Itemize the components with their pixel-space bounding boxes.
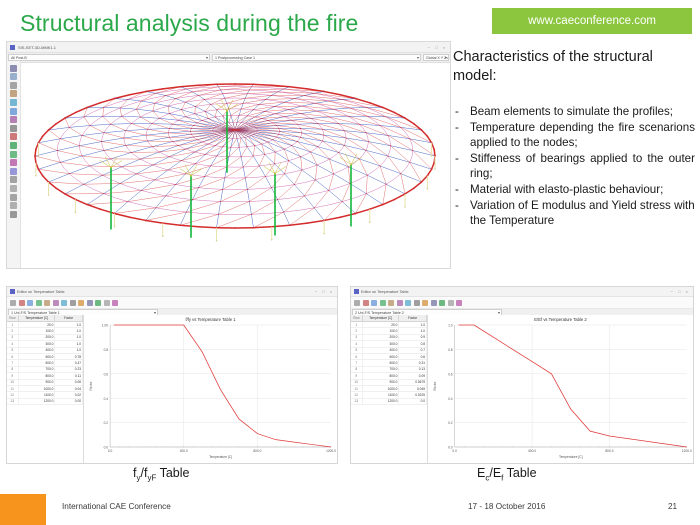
toolbar-icon-10[interactable] [95, 300, 101, 306]
svg-text:800.0: 800.0 [605, 449, 613, 453]
caption-sub2: yF [147, 474, 156, 483]
column-icon[interactable] [10, 142, 17, 149]
grid-cell[interactable]: 11 [7, 386, 19, 391]
characteristics-heading: Characteristics of the structural model: [453, 48, 695, 86]
caption-fy-table: fy/fyF Table [133, 466, 189, 483]
load-icon[interactable] [10, 176, 17, 183]
toolbar-icon-6[interactable] [61, 300, 67, 306]
grid-cell[interactable]: 6 [7, 354, 19, 359]
grid-cell[interactable]: 1.0 [55, 341, 83, 346]
mesh-icon[interactable] [10, 194, 17, 201]
viewer-tool-palette[interactable] [7, 61, 21, 268]
grid-cell[interactable]: 2 [351, 328, 363, 333]
brush-icon[interactable] [10, 108, 17, 115]
grid-header-cell: Temperature [C] [19, 315, 56, 321]
toolbar-icon-5[interactable] [397, 300, 403, 306]
grid-cell[interactable]: 200.0 [19, 335, 55, 340]
bullet-text: Material with elasto-plastic behaviour; [470, 182, 695, 197]
grid-cell[interactable]: 0.47 [55, 360, 83, 365]
svg-text:0.6: 0.6 [448, 372, 453, 376]
grid-cell[interactable]: 10 [351, 380, 363, 385]
chart2-body: RowTemperature [C]Factor120.01.02100.01.… [351, 315, 693, 463]
support-icon[interactable] [10, 185, 17, 192]
grid-cell[interactable]: 300.0 [19, 341, 55, 346]
grid-cell[interactable]: 0.31 [399, 360, 427, 365]
grid-cell[interactable]: 7 [351, 360, 363, 365]
grid-cell[interactable]: 13 [7, 399, 19, 404]
toolbar-icon-2[interactable] [27, 300, 33, 306]
chevron-down-icon [417, 57, 419, 59]
svg-text:0.4: 0.4 [104, 397, 109, 401]
combo-label: 1 Postprocessing Case 1 [215, 56, 255, 60]
grid-cell[interactable]: 0.0675 [399, 380, 427, 385]
grid-cell[interactable]: 1 [7, 322, 19, 327]
table-row[interactable]: 131200.00.0 [351, 399, 427, 405]
bullet-item: -Variation of E modulus and Yield stress… [455, 198, 695, 228]
svg-text:0.2: 0.2 [448, 421, 453, 425]
characteristics-bullet-list: -Beam elements to simulate the profiles;… [455, 104, 695, 230]
chart2-plot-svg: 1.00.80.60.40.20.00.0400.0800.01200.0Tem… [428, 315, 693, 463]
combo-load-case[interactable]: 1 Postprocessing Case 1 [212, 54, 421, 61]
grid-cell[interactable]: 20.0 [363, 322, 399, 327]
svg-text:0.6: 0.6 [104, 372, 109, 376]
grid-header-cell: Row [7, 315, 19, 321]
bullet-text: Beam elements to simulate the profiles; [470, 104, 695, 119]
grid-cell[interactable]: 600.0 [363, 360, 399, 365]
grid-cell[interactable]: 1.0 [399, 328, 427, 333]
grid-cell[interactable]: 1.0 [55, 328, 83, 333]
window-controls[interactable]: − □ × [671, 289, 690, 294]
node-icon[interactable] [10, 82, 17, 89]
grid-cell[interactable]: 0.11 [55, 373, 83, 378]
font-icon[interactable] [10, 116, 17, 123]
svg-text:1.00: 1.00 [102, 324, 108, 328]
toolbar-icon-8[interactable] [78, 300, 84, 306]
svg-text:1.0: 1.0 [448, 324, 453, 328]
toolbar-icon-1[interactable] [19, 300, 25, 306]
grid-cell[interactable]: 5 [351, 348, 363, 353]
svg-text:0.0: 0.0 [452, 449, 457, 453]
viewer-title-bar: SIS-SET-3D-MMK1.1 − □ × [7, 42, 450, 53]
bullet-item: -Temperature depending the fire scenario… [455, 120, 695, 150]
grid-cell[interactable]: 1.0 [55, 335, 83, 340]
combo-label: All Post-B [11, 56, 27, 60]
bullet-item: -Material with elasto-plastic behaviour; [455, 182, 695, 197]
print-icon[interactable] [10, 125, 17, 132]
bullet-dash: - [455, 182, 470, 197]
chart1-plot-area: f/fy vs Temperature Table 1 1.000.80.60.… [84, 315, 337, 463]
svg-text:0.0: 0.0 [108, 449, 113, 453]
chart2-toolbar[interactable] [351, 297, 693, 309]
svg-text:0.4: 0.4 [448, 397, 453, 401]
grid-cell[interactable]: 0.06 [55, 380, 83, 385]
grid-cell[interactable]: 100.0 [363, 328, 399, 333]
svg-text:Factor: Factor [433, 381, 437, 391]
window-controls[interactable]: − □ × [428, 45, 447, 50]
grid-cell[interactable]: 1.0 [55, 322, 83, 327]
combo-postprocessing-set[interactable]: All Post-B [8, 54, 210, 61]
page-title: Structural analysis during the fire [20, 10, 358, 37]
grid-header-row: RowTemperature [C]Factor [351, 315, 427, 322]
cursor-icon[interactable] [10, 65, 17, 72]
grid-cell[interactable]: 7 [7, 360, 19, 365]
grid-cell[interactable]: 11 [351, 386, 363, 391]
grid-cell[interactable]: 400.0 [19, 348, 55, 353]
grid-cell[interactable]: 0.02 [55, 392, 83, 397]
grid-header-cell: Factor [399, 315, 427, 321]
grid-cell[interactable]: 3 [351, 335, 363, 340]
toolbar-icon-0[interactable] [354, 300, 360, 306]
svg-text:1200.0: 1200.0 [682, 449, 692, 453]
toolbar-icon-7[interactable] [414, 300, 420, 306]
grid-cell[interactable]: 0.04 [55, 386, 83, 391]
grid-cell[interactable]: 0.0 [399, 399, 427, 404]
chart1-toolbar[interactable] [7, 297, 337, 309]
caption-post: Table [503, 466, 536, 480]
chart2-plot-area: E/Ef vs Temperature Table 2 1.00.80.60.4… [428, 315, 693, 463]
grid-cell[interactable]: 1 [351, 322, 363, 327]
footer-conference-name: International CAE Conference [62, 502, 171, 511]
toolbar-icon-6[interactable] [405, 300, 411, 306]
paint-icon[interactable] [10, 99, 17, 106]
grid-cell[interactable]: 0.78 [55, 354, 83, 359]
grid-cell[interactable]: 200.0 [363, 335, 399, 340]
grid-cell[interactable]: 100.0 [19, 328, 55, 333]
grid-cell[interactable]: 300.0 [363, 341, 399, 346]
grid-cell[interactable]: 6 [351, 354, 363, 359]
grid-cell[interactable]: 4 [7, 341, 19, 346]
chevron-down-icon [206, 57, 208, 59]
grid-cell[interactable]: 3 [7, 335, 19, 340]
beam-icon[interactable] [10, 151, 17, 158]
window-controls[interactable]: − □ × [315, 289, 334, 294]
svg-text:400.0: 400.0 [180, 449, 188, 453]
model-canvas[interactable] [20, 61, 450, 268]
toolbar-icon-5[interactable] [53, 300, 59, 306]
grid-cell[interactable]: 0.0225 [399, 392, 427, 397]
grid-cell[interactable]: 0.7 [399, 348, 427, 353]
grid-cell[interactable]: 400.0 [363, 348, 399, 353]
svg-text:800.0: 800.0 [253, 449, 261, 453]
grid-header-cell: Row [351, 315, 363, 321]
svg-text:1200.0: 1200.0 [326, 449, 336, 453]
grid-cell[interactable]: 5 [7, 348, 19, 353]
grid-cell[interactable]: 500.0 [363, 354, 399, 359]
grid-cell[interactable]: 800.0 [19, 373, 55, 378]
solid-icon[interactable] [10, 168, 17, 175]
chart2-title-bar: Editor on Temperature Table − □ × [351, 287, 693, 297]
grid-cell[interactable]: 800.0 [363, 373, 399, 378]
grid-cell[interactable]: 20.0 [19, 322, 55, 327]
bullet-dash: - [455, 198, 470, 228]
toolbar-icon-10[interactable] [439, 300, 445, 306]
grid-cell[interactable]: 0.9 [399, 335, 427, 340]
toolbar-icon-12[interactable] [112, 300, 118, 306]
viewer-window-title: SIS-SET-3D-MMK1.1 [18, 45, 56, 50]
grid-cell[interactable]: 9 [7, 373, 19, 378]
result-icon[interactable] [10, 202, 17, 209]
chart1-body: RowTemperature [C]Factor120.01.02100.01.… [7, 315, 337, 463]
temperature-table-window-1[interactable]: Editor on Temperature Table − □ × 1 Uni-… [6, 286, 338, 464]
toolbar-icon-11[interactable] [104, 300, 110, 306]
bullet-item: -Beam elements to simulate the profiles; [455, 104, 695, 119]
chart2-window-title: Editor on Temperature Table [361, 290, 409, 294]
grid-cell[interactable]: 4 [351, 341, 363, 346]
grid-cell[interactable]: 1.0 [399, 322, 427, 327]
bullet-dash: - [455, 120, 470, 150]
grid-cell[interactable]: 700.0 [363, 367, 399, 372]
url-banner-label: www.caeconference.com [528, 15, 656, 27]
svg-text:0.2: 0.2 [104, 421, 109, 425]
toolbar-icon-3[interactable] [36, 300, 42, 306]
svg-text:400.0: 400.0 [528, 449, 536, 453]
grid-cell[interactable]: 12 [351, 392, 363, 397]
table-row[interactable]: 131200.00.00 [7, 399, 83, 405]
dot-icon[interactable] [10, 133, 17, 140]
app-logo-icon [354, 289, 359, 294]
grid-cell[interactable]: 1200.0 [363, 399, 399, 404]
svg-text:0.8: 0.8 [448, 348, 453, 352]
grid-cell[interactable]: 0.6 [399, 354, 427, 359]
settings-icon[interactable] [10, 211, 17, 218]
toolbar-icon-4[interactable] [44, 300, 50, 306]
grid-cell[interactable]: 1.0 [55, 348, 83, 353]
grid-cell[interactable]: 600.0 [19, 360, 55, 365]
toolbar-icon-7[interactable] [70, 300, 76, 306]
grid-cell[interactable]: 0.23 [55, 367, 83, 372]
chevron-down-icon [498, 312, 500, 314]
grid-cell[interactable]: 900.0 [363, 380, 399, 385]
toolbar-icon-9[interactable] [431, 300, 437, 306]
grid-cell[interactable]: 0.00 [55, 399, 83, 404]
grid-cell[interactable]: 1100.0 [19, 392, 55, 397]
grid-cell[interactable]: 700.0 [19, 367, 55, 372]
caption-post: Table [156, 466, 189, 480]
viewer-body [7, 61, 450, 268]
bullet-dash: - [455, 104, 470, 119]
grid-cell[interactable]: 1000.0 [363, 386, 399, 391]
plate-icon[interactable] [10, 159, 17, 166]
svg-text:Temperature [C]: Temperature [C] [559, 455, 583, 459]
toolbar-icon-3[interactable] [380, 300, 386, 306]
svg-text:0.8: 0.8 [104, 348, 109, 352]
grid-cell[interactable]: 13 [351, 399, 363, 404]
footer-date: 17 - 18 October 2016 [468, 502, 545, 511]
chart1-title-bar: Editor on Temperature Table − □ × [7, 287, 337, 297]
chart1-plot-svg: 1.000.80.60.40.20.00.0400.0800.01200.0Te… [84, 315, 337, 463]
grid-header-cell: Factor [55, 315, 83, 321]
temperature-table-window-2[interactable]: Editor on Temperature Table − □ × 2 Uni-… [350, 286, 694, 464]
bullet-text: Stiffeness of bearings applied to the ou… [470, 151, 695, 181]
svg-text:Factor: Factor [89, 381, 93, 391]
toolbar-icon-8[interactable] [422, 300, 428, 306]
pencil-icon[interactable] [10, 73, 17, 80]
grid-cell[interactable]: 8 [351, 367, 363, 372]
toolbar-icon-1[interactable] [363, 300, 369, 306]
grid-cell[interactable]: 2 [7, 328, 19, 333]
grid-cell[interactable]: 500.0 [19, 354, 55, 359]
toolbar-icon-2[interactable] [371, 300, 377, 306]
bullet-item: -Stiffeness of bearings applied to the o… [455, 151, 695, 181]
chevron-down-icon [445, 57, 447, 59]
combo-result-component[interactable]: Global X Y Z all beams [423, 54, 449, 61]
grid-cell[interactable]: 12 [7, 392, 19, 397]
model-viewer-window[interactable]: SIS-SET-3D-MMK1.1 − □ × All Post-B 1 Pos… [6, 41, 451, 269]
toolbar-icon-9[interactable] [87, 300, 93, 306]
chart1-data-grid[interactable]: RowTemperature [C]Factor120.01.02100.01.… [7, 315, 84, 463]
url-banner: www.caeconference.com [492, 8, 692, 34]
chart2-data-grid[interactable]: RowTemperature [C]Factor120.01.02100.01.… [351, 315, 428, 463]
grid-cell[interactable]: 8 [7, 367, 19, 372]
grid-cell[interactable]: 0.8 [399, 341, 427, 346]
chevron-down-icon [154, 312, 156, 314]
svg-text:Temperature [C]: Temperature [C] [209, 455, 232, 459]
chart1-window-title: Editor on Temperature Table [17, 290, 65, 294]
bullet-dash: - [455, 151, 470, 181]
app-logo-icon [10, 45, 15, 50]
grid-cell[interactable]: 1100.0 [363, 392, 399, 397]
bullet-text: Temperature depending the fire scenarion… [470, 120, 695, 150]
grid-header-cell: Temperature [C] [363, 315, 400, 321]
toolbar-icon-12[interactable] [456, 300, 462, 306]
toolbar-icon-11[interactable] [448, 300, 454, 306]
toolbar-icon-4[interactable] [388, 300, 394, 306]
grid-cell[interactable]: 1200.0 [19, 399, 55, 404]
app-logo-icon [10, 289, 15, 294]
toolbar-icon-0[interactable] [10, 300, 16, 306]
bullet-text: Variation of E modulus and Yield stress … [470, 198, 695, 228]
grid-cell[interactable]: 9 [351, 373, 363, 378]
grid-cell[interactable]: 0.13 [399, 367, 427, 372]
grid-header-row: RowTemperature [C]Factor [7, 315, 83, 322]
caption-ec-table: Ec/Ef Table [477, 466, 537, 483]
footer-accent-block [0, 494, 46, 525]
grid-cell[interactable]: 0.09 [399, 373, 427, 378]
element-icon[interactable] [10, 90, 17, 97]
grid-cell[interactable]: 1000.0 [19, 386, 55, 391]
footer-page-number: 21 [668, 502, 677, 511]
grid-cell[interactable]: 10 [7, 380, 19, 385]
grid-cell[interactable]: 900.0 [19, 380, 55, 385]
grid-cell[interactable]: 0.045 [399, 386, 427, 391]
caption-mid: /E [489, 466, 501, 480]
